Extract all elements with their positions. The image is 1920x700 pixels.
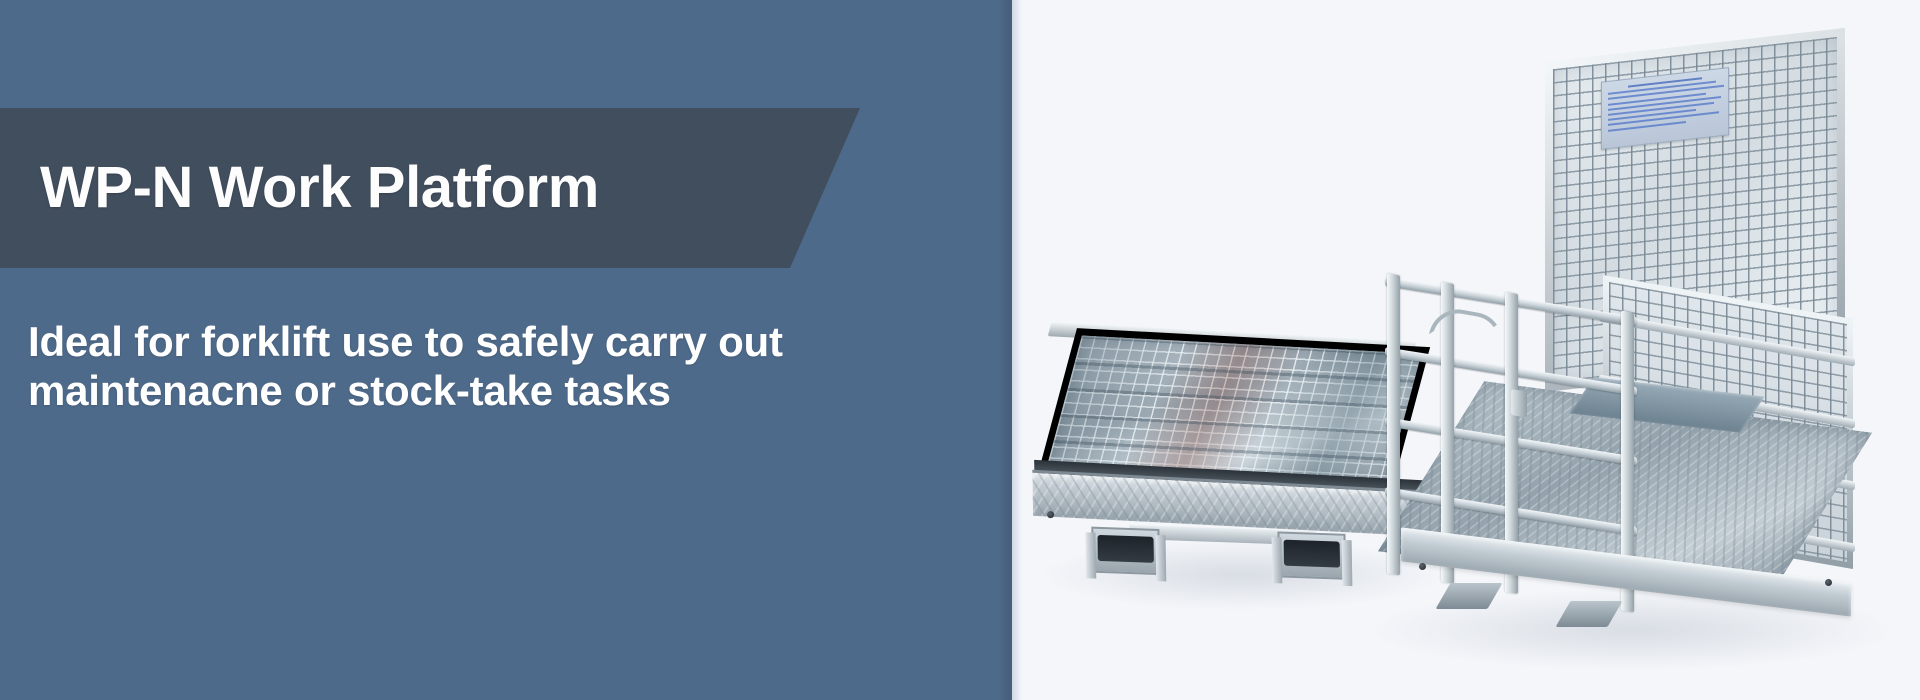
subtitle-line-1: Ideal for forklift use to safely carry o… xyxy=(28,318,978,367)
edge-bolt xyxy=(1047,511,1054,518)
fork-pocket-right xyxy=(1277,531,1346,579)
cage-fork-pocket-foot xyxy=(1555,601,1622,627)
fork-pocket-left-leg xyxy=(1085,532,1096,578)
promo-banner: WP-N Work Platform Ideal for forklift us… xyxy=(0,0,1920,700)
product-image-cage-platform xyxy=(1367,35,1897,665)
fork-pocket-left xyxy=(1091,527,1160,575)
page-title: WP-N Work Platform xyxy=(0,159,599,217)
product-image-area xyxy=(1012,0,1920,700)
fork-pocket-left-leg xyxy=(1155,535,1166,581)
fork-pocket-right-leg xyxy=(1342,540,1353,586)
base-bolt xyxy=(1419,563,1426,570)
subtitle: Ideal for forklift use to safely carry o… xyxy=(28,318,978,415)
cage-instruction-label xyxy=(1601,67,1729,150)
cage-corner-upright xyxy=(1387,273,1400,575)
base-bolt xyxy=(1825,579,1832,586)
cage-gate-latch xyxy=(1511,389,1527,418)
title-band-shadow xyxy=(0,268,860,274)
cage-fork-pocket-foot xyxy=(1435,583,1502,609)
fork-pocket-right-leg xyxy=(1272,537,1283,583)
left-text-panel: WP-N Work Platform Ideal for forklift us… xyxy=(0,0,1012,700)
fork-pocket-mouth xyxy=(1284,540,1340,568)
title-band: WP-N Work Platform xyxy=(0,108,860,268)
fork-pocket-mouth xyxy=(1097,535,1153,563)
subtitle-line-2: maintenacne or stock-take tasks xyxy=(28,367,978,416)
